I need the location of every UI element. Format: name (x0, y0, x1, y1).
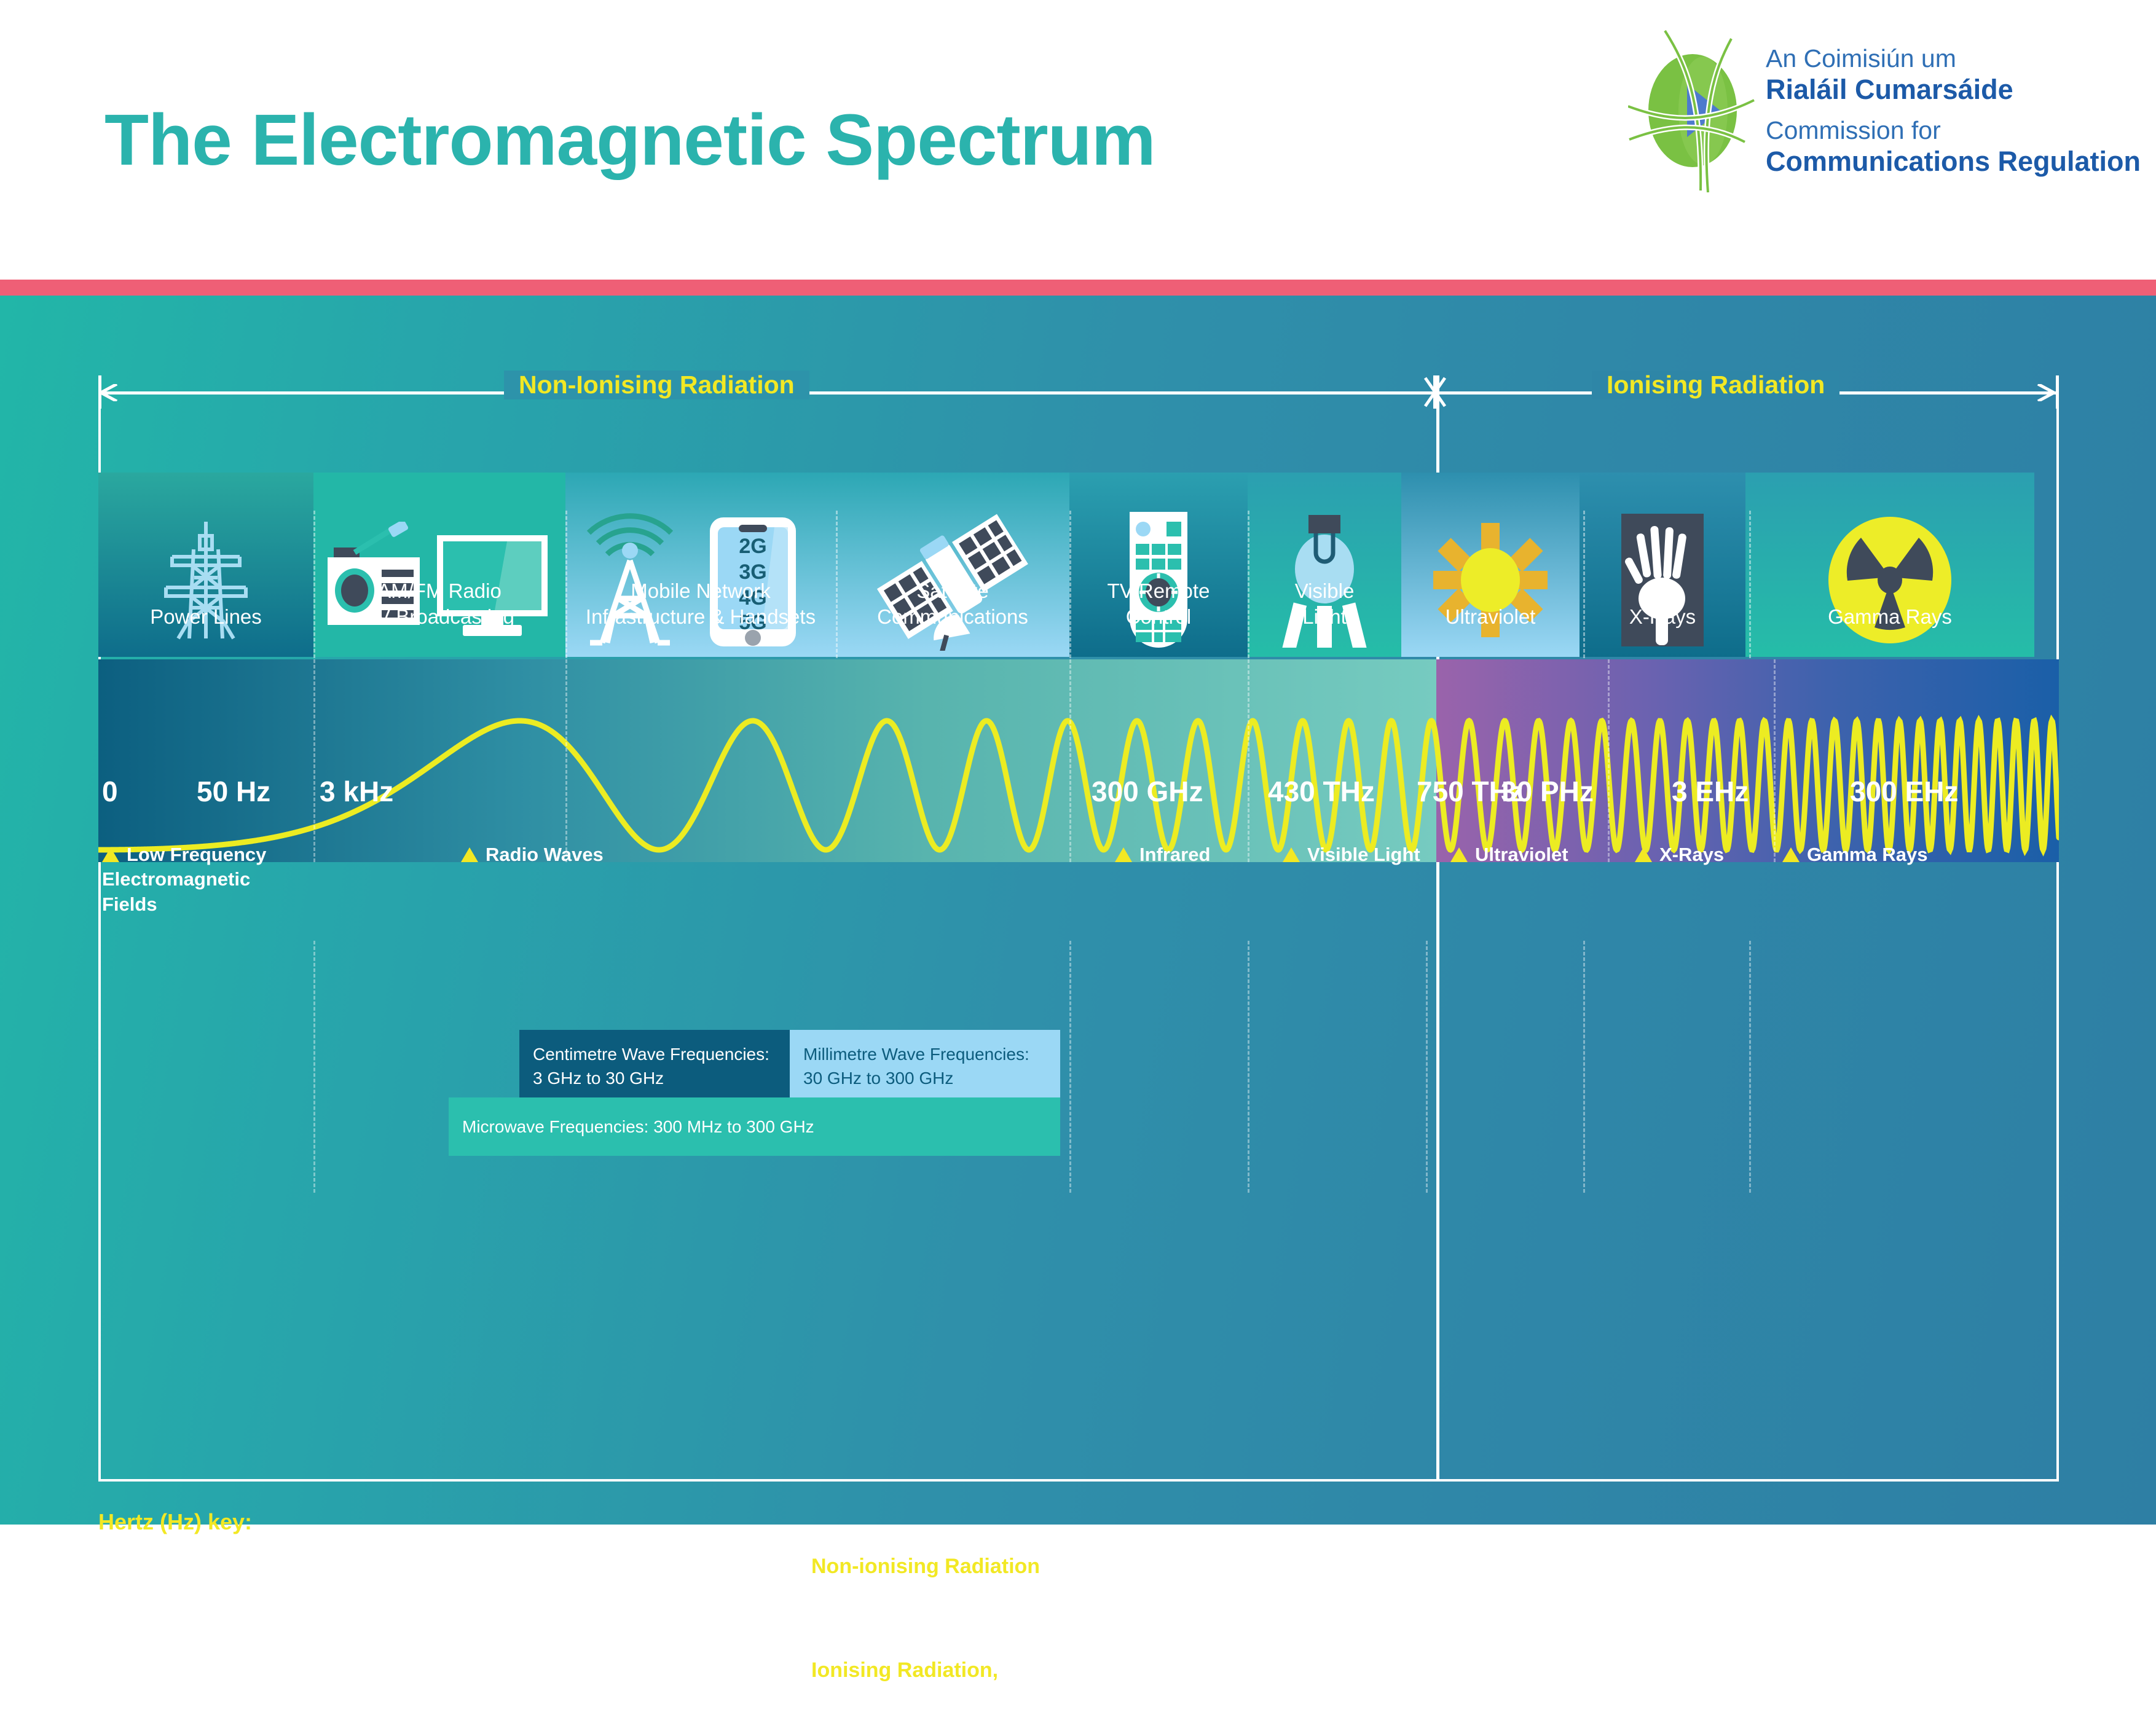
band-guide-2 (565, 659, 567, 862)
band-label-visible-light: Visible Light (1283, 842, 1420, 867)
scale-value-6: 30 PHz (1501, 775, 1594, 808)
icon-label-visible-light: VisibleLight (1295, 578, 1355, 653)
logo-line-3: Commission for (1766, 116, 2141, 145)
logo-line-1: An Coimisiún um (1766, 44, 2141, 73)
page-header: The Electromagnetic Spectrum An Coimisiú… (0, 0, 2156, 280)
centimetre-wave-range: 3 GHz to 30 GHz (533, 1066, 776, 1090)
scale-value-7: 3 EHz (1672, 775, 1749, 808)
description-block: Non-ionising Radiation includes all radi… (811, 1552, 2077, 1731)
icon-label-mobile-network: Mobile NetworkInfrastructure & Handsets (586, 578, 816, 653)
waveform (98, 659, 2059, 862)
scale-value-8: 300 EHz (1850, 775, 1958, 808)
millimetre-wave-box: Millimetre Wave Frequencies: 30 GHz to 3… (790, 1030, 1060, 1102)
icon-divider-1 (313, 511, 315, 658)
hertz-def: Gigahertz = 10⁹ Hz (171, 1640, 427, 1686)
arrow-right-head (2034, 384, 2059, 401)
lower-guide-1 (313, 941, 315, 1193)
band-label-x-rays-text: X-Rays (1659, 844, 1724, 865)
band-name-labels: Low Frequency Electromagnetic Fields Rad… (98, 842, 2059, 922)
icon-cell-visible-light[interactable]: VisibleLight (1248, 473, 1401, 657)
hertz-key-table: kHz: Kilohertz = 10³ Hz THz: Terahertz =… (98, 1548, 756, 1686)
icon-label-x-rays: X-Rays (1629, 604, 1696, 653)
triangle-marker-icon (1450, 847, 1468, 862)
triangle-marker-icon (1283, 847, 1300, 862)
hertz-abbr: MHz: (98, 1595, 171, 1640)
band-label-infrared: Infrared (1115, 842, 1210, 867)
band-label-low-frequency-text: Low Frequency Electromagnetic Fields (102, 844, 266, 915)
icon-label-am-fm-radio: AM/FM RadioTV Broadcasting (364, 578, 514, 653)
band-label-radio-waves-text: Radio Waves (486, 844, 604, 865)
table-row: GHz: Gigahertz = 10⁹ Hz EHz: Exahertz = … (98, 1640, 756, 1686)
microwave-box: Microwave Frequencies: 300 MHz to 300 GH… (449, 1097, 1060, 1156)
logo-line-4: Communications Regulation (1766, 145, 2141, 178)
icon-cell-am-fm-radio[interactable]: AM/FM RadioTV Broadcasting (313, 473, 565, 657)
hertz-def: Kilohertz = 10³ Hz (171, 1549, 427, 1595)
band-guide-1 (313, 659, 315, 862)
hertz-key: Hertz (Hz) key: kHz: Kilohertz = 10³ Hz … (98, 1509, 756, 1686)
hertz-key-title: Hertz (Hz) key: (98, 1509, 756, 1535)
millimetre-wave-range: 30 GHz to 300 GHz (803, 1066, 1047, 1090)
band-guide-5 (1608, 659, 1610, 862)
centimetre-wave-title: Centimetre Wave Frequencies: (533, 1042, 776, 1066)
band-label-radio-waves: Radio Waves (461, 842, 604, 867)
non-ionising-label: Non-Ionising Radiation (504, 371, 809, 399)
scale-value-0: 0 (102, 775, 118, 808)
lower-guide-3 (1248, 941, 1249, 1193)
ionising-label: Ionising Radiation (1592, 371, 1839, 399)
comreg-logo: An Coimisiún um Rialáil Cumarsáide Commi… (1628, 28, 2141, 194)
triangle-marker-icon (1635, 847, 1652, 862)
icon-divider-4 (1069, 511, 1071, 658)
icon-cell-mobile-network[interactable]: 2G 3G 4G 5G Mobile NetworkInfrastructure… (565, 473, 836, 657)
band-label-gamma-rays: Gamma Rays (1782, 842, 1927, 867)
hertz-def: Exahertz = 10¹⁸ Hz (500, 1640, 756, 1686)
icon-cell-x-rays[interactable]: X-Rays (1580, 473, 1745, 657)
band-guide-4 (1248, 659, 1249, 862)
band-label-ultraviolet: Ultraviolet (1450, 842, 1568, 867)
icon-divider-7 (1749, 511, 1751, 658)
icon-divider-6 (1583, 511, 1585, 658)
triangle-marker-icon (461, 847, 478, 862)
triangle-marker-icon (1115, 847, 1132, 862)
page-title: The Electromagnetic Spectrum (104, 98, 1155, 182)
icon-divider-2 (565, 511, 567, 658)
band-label-infrared-text: Infrared (1139, 844, 1210, 865)
hertz-abbr: PHz: (427, 1595, 500, 1640)
hertz-def: Terahertz = 10¹² Hz (500, 1549, 756, 1595)
band-label-low-frequency: Low Frequency Electromagnetic Fields (102, 842, 274, 917)
lower-guide-6 (1749, 941, 1751, 1193)
description-paragraph-1: Non-ionising Radiation includes all radi… (811, 1552, 2077, 1638)
lower-guide-4 (1426, 941, 1428, 1193)
scale-value-3: 300 GHz (1092, 775, 1203, 808)
hertz-abbr: GHz: (98, 1640, 171, 1686)
frequency-scale: 0 50 Hz 3 kHz 300 GHz 430 THz 750 THz 30… (98, 775, 2059, 830)
triangle-marker-icon (1782, 847, 1800, 862)
non-ionising-bold: Non-ionising Radiation (811, 1555, 1040, 1578)
radiation-type-arrows: Non-Ionising Radiation Ionising Radiatio… (98, 375, 2059, 409)
table-row: MHz: Megahertz = 10⁶ Hz PHz: Petahertz =… (98, 1595, 756, 1640)
scale-value-4: 430 THz (1268, 775, 1375, 808)
icon-cell-ultraviolet[interactable]: Ultraviolet (1401, 473, 1580, 657)
icon-divider-5 (1248, 511, 1249, 658)
band-guide-3 (1069, 659, 1071, 862)
hertz-abbr: kHz: (98, 1549, 171, 1595)
band-label-visible-light-text: Visible Light (1307, 844, 1420, 865)
icon-label-ultraviolet: Ultraviolet (1446, 604, 1536, 653)
ionising-bold: Ionising Radiation, (811, 1658, 998, 1682)
icon-cell-tv-remote[interactable]: TV RemoteControl (1069, 473, 1248, 657)
description-paragraph-2: Ionising Radiation, which can break mole… (811, 1656, 2077, 1713)
hertz-abbr: THz: (427, 1549, 500, 1595)
icon-cell-satellite[interactable]: SatelliteCommunications (836, 473, 1069, 657)
svg-text:2G: 2G (739, 535, 766, 558)
band-label-ultraviolet-text: Ultraviolet (1475, 844, 1568, 865)
microwave-text: Microwave Frequencies: 300 MHz to 300 GH… (462, 1115, 814, 1139)
comreg-logo-mark (1628, 28, 1757, 194)
lower-guide-2 (1069, 941, 1071, 1193)
icon-row: Power Lines (98, 473, 2059, 657)
icon-cell-power-lines[interactable]: Power Lines (98, 473, 313, 657)
band-label-gamma-rays-text: Gamma Rays (1807, 844, 1927, 865)
table-row: kHz: Kilohertz = 10³ Hz THz: Terahertz =… (98, 1549, 756, 1595)
icon-cell-gamma-rays[interactable]: Gamma Rays (1745, 473, 2034, 657)
accent-divider-bar (0, 280, 2156, 296)
icon-label-tv-remote: TV RemoteControl (1108, 578, 1210, 653)
lower-guide-5 (1583, 941, 1585, 1193)
centimetre-wave-box: Centimetre Wave Frequencies: 3 GHz to 30… (519, 1030, 790, 1102)
millimetre-wave-title: Millimetre Wave Frequencies: (803, 1042, 1047, 1066)
hertz-abbr: EHz: (427, 1640, 500, 1686)
icon-label-gamma-rays: Gamma Rays (1828, 604, 1952, 653)
band-label-x-rays: X-Rays (1635, 842, 1724, 867)
icon-label-power-lines: Power Lines (150, 604, 262, 653)
scale-value-2: 3 kHz (320, 775, 393, 808)
hertz-def: Megahertz = 10⁶ Hz (171, 1595, 427, 1640)
scale-value-1: 50 Hz (197, 775, 270, 808)
band-guide-6 (1774, 659, 1776, 862)
logo-line-2: Rialáil Cumarsáide (1766, 73, 2141, 106)
icon-label-satellite: SatelliteCommunications (877, 578, 1028, 653)
icon-divider-3 (836, 511, 838, 658)
triangle-marker-icon (102, 847, 119, 862)
spectrum-panel: Non-Ionising Radiation Ionising Radiatio… (0, 296, 2156, 1525)
hertz-def: Petahertz = 10¹⁵ Hz (500, 1595, 756, 1640)
spectrum-wave-band (98, 659, 2059, 862)
